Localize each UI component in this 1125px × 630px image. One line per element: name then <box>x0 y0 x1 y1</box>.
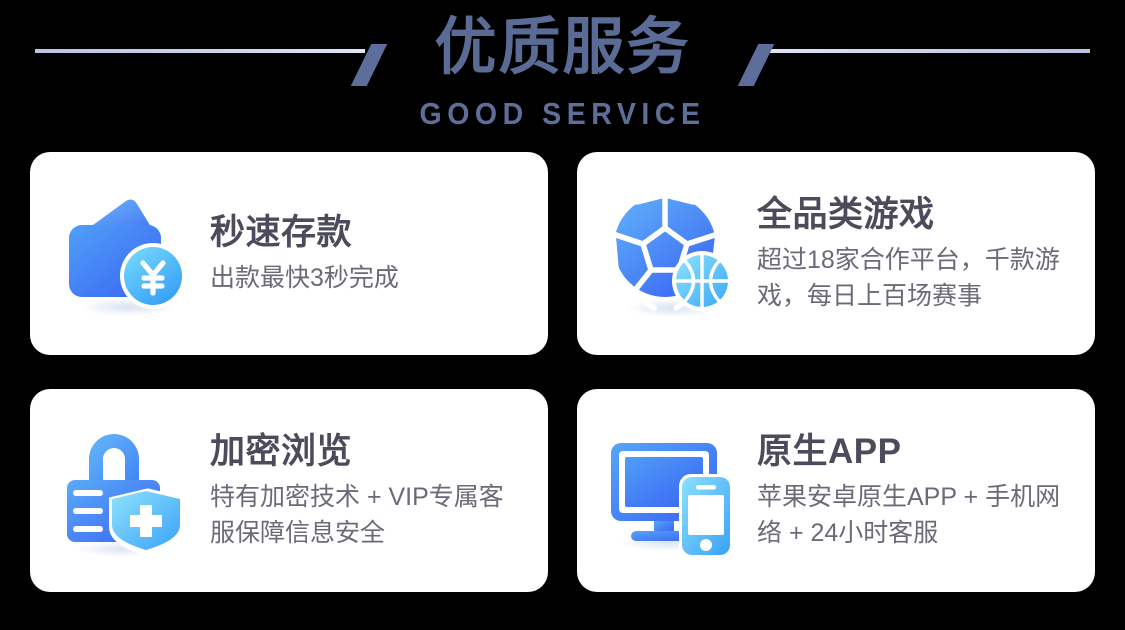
monitor-phone-icon <box>603 421 743 561</box>
feature-card-title: 原生APP <box>757 430 1073 474</box>
wallet-yen-icon <box>56 184 196 324</box>
feature-card-subtitle: 苹果安卓原生APP + 手机网络 + 24小时客服 <box>757 479 1073 551</box>
promo-banner: 优质服务 GOOD SERVICE <box>0 0 1125 630</box>
feature-card-encryption[interactable]: 加密浏览 特有加密技术 + VIP专属客服保障信息安全 <box>30 389 548 592</box>
feature-card-subtitle: 超过18家合作平台，千款游戏，每日上百场赛事 <box>757 242 1073 314</box>
feature-card-text: 全品类游戏 超过18家合作平台，千款游戏，每日上百场赛事 <box>743 193 1077 314</box>
feature-card-subtitle: 特有加密技术 + VIP专属客服保障信息安全 <box>210 479 526 551</box>
feature-card-title: 加密浏览 <box>210 430 526 474</box>
feature-card-title: 秒速存款 <box>210 211 526 255</box>
feature-card-text: 秒速存款 出款最快3秒完成 <box>196 211 530 296</box>
feature-card-subtitle: 出款最快3秒完成 <box>210 260 526 296</box>
feature-card-native-app[interactable]: 原生APP 苹果安卓原生APP + 手机网络 + 24小时客服 <box>577 389 1095 592</box>
page-title: 优质服务 <box>0 12 1125 84</box>
feature-card-title: 全品类游戏 <box>757 193 1073 237</box>
soccer-basketball-icon <box>603 184 743 324</box>
feature-card-games[interactable]: 全品类游戏 超过18家合作平台，千款游戏，每日上百场赛事 <box>577 152 1095 355</box>
banner-header: 优质服务 GOOD SERVICE <box>0 0 1125 150</box>
page-subtitle: GOOD SERVICE <box>45 96 1080 132</box>
feature-card-text: 原生APP 苹果安卓原生APP + 手机网络 + 24小时客服 <box>743 430 1077 551</box>
feature-card-grid: 秒速存款 出款最快3秒完成 <box>30 152 1095 592</box>
feature-card-text: 加密浏览 特有加密技术 + VIP专属客服保障信息安全 <box>196 430 530 551</box>
lock-shield-icon <box>56 421 196 561</box>
feature-card-deposit[interactable]: 秒速存款 出款最快3秒完成 <box>30 152 548 355</box>
